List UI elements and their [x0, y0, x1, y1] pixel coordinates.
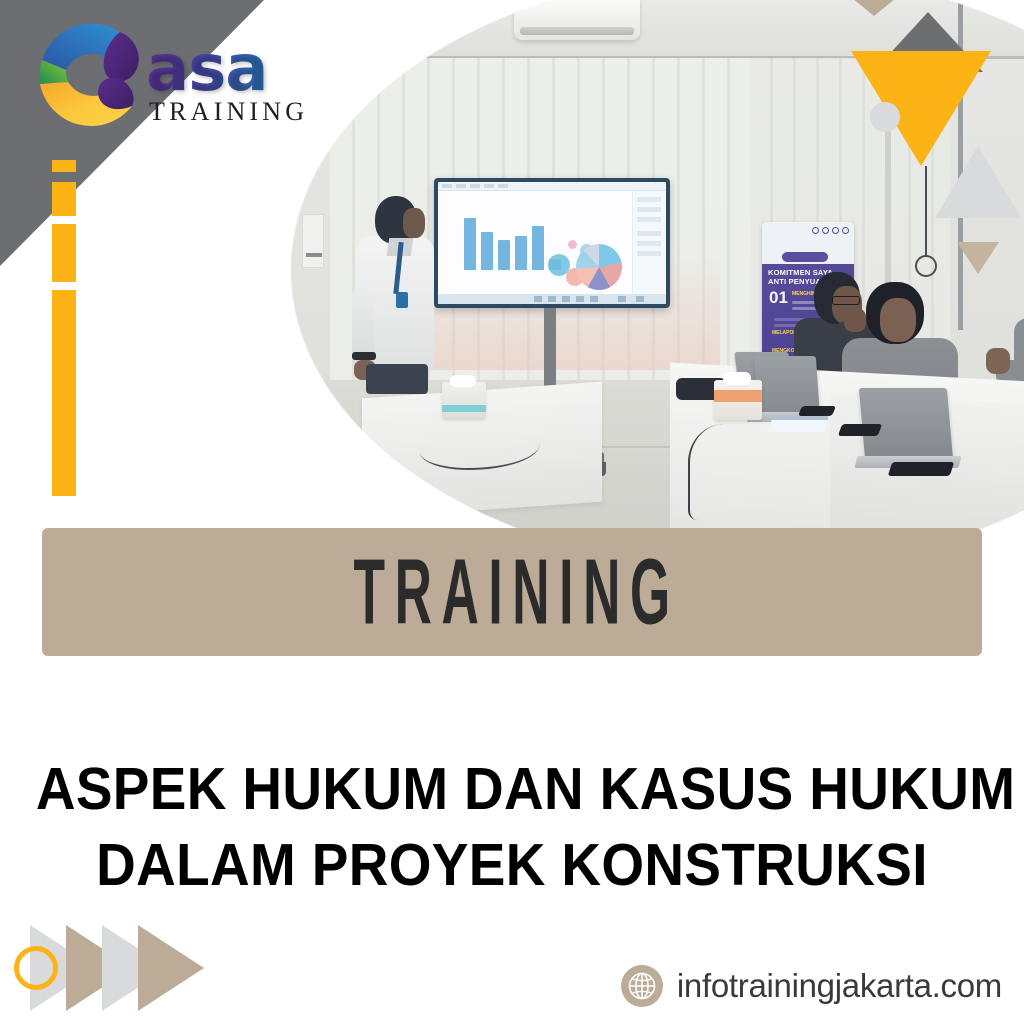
participant-1-glasses-icon [832, 296, 860, 305]
chevron-right-icon-4 [138, 925, 204, 1011]
tissue-box-right [714, 380, 762, 420]
footer-website-url: infotrainingjakarta.com [677, 967, 1002, 1005]
participant-1-hand [844, 308, 866, 332]
presenter-face [403, 208, 425, 238]
title-line-2: DALAM PROYEK KONSTRUKSI [36, 828, 988, 904]
poster-canvas: KOMITMEN SAYA ANTI PENYUAPAN 01 MENGHIND… [0, 0, 1024, 1024]
dash-1 [52, 160, 76, 172]
screen-bar-chart [464, 212, 561, 270]
logo-wordmark: asa [146, 40, 308, 99]
presenter-lower-body [366, 364, 428, 394]
presenter-badge [396, 292, 408, 308]
presentation-screen [434, 178, 670, 308]
page-title: ASPEK HUKUM DAN KASUS HUKUM DALAM PROYEK… [0, 752, 1024, 903]
screen-sidepanel [632, 191, 666, 294]
ring-small-icon [915, 255, 937, 277]
circular-ring-logo-icon [28, 14, 152, 138]
phone-on-table-2 [838, 424, 882, 436]
logo-subtitle: TRAINING [149, 97, 308, 127]
title-line-1: ASPEK HUKUM DAN KASUS HUKUM [36, 752, 988, 828]
footer-website[interactable]: infotrainingjakarta.com [621, 962, 1002, 1010]
participant-2-face [880, 298, 916, 342]
screen-pie-chart [576, 244, 622, 290]
training-banner: TRAINING [42, 528, 982, 656]
dash-2 [52, 182, 76, 216]
air-conditioner-icon [514, 0, 640, 40]
screen-taskbar [438, 294, 666, 304]
participant-3-hand [986, 348, 1010, 374]
screen-toolbar [438, 182, 666, 191]
tissue-box-front [442, 382, 486, 418]
training-banner-label: TRAINING [344, 546, 680, 639]
presenter-watch [352, 352, 376, 360]
dash-4 [52, 290, 76, 496]
hanging-line [925, 166, 927, 256]
circle-grey-icon [870, 102, 900, 132]
phone-on-table-1 [798, 406, 836, 416]
circle-outline-icon [14, 946, 58, 990]
standing-banner-step-1: 01 [769, 288, 788, 308]
phone-on-table-3 [888, 462, 955, 476]
globe-icon [621, 965, 663, 1007]
dash-3 [52, 224, 76, 282]
brand-logo[interactable]: asa TRAINING [28, 14, 328, 160]
photo-cable-right [688, 424, 778, 520]
photo-wall-sign [302, 214, 324, 268]
